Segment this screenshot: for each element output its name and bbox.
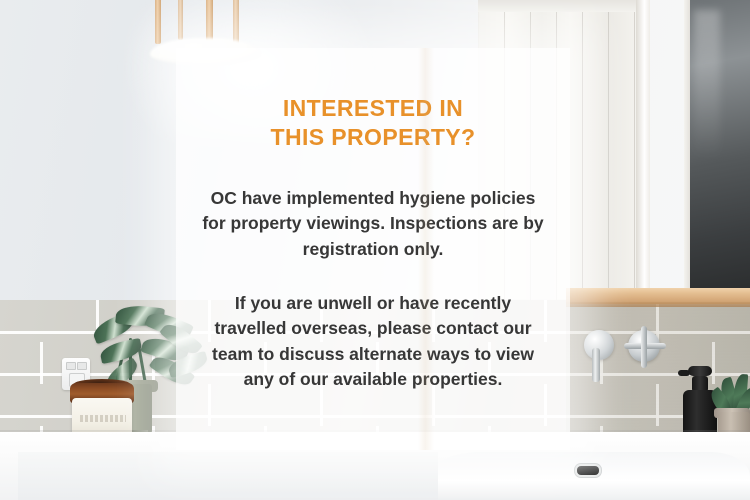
cabinet-top-rail [478,0,646,12]
poster-canvas: Interested in This Property? OC have imp… [0,0,750,500]
bathtub-bowl [420,452,750,500]
lamp-dowel [178,0,183,40]
hygiene-policy-paragraph: OC have implemented hygiene policies for… [198,186,548,263]
headline-line-2: This Property? [271,123,476,152]
unwell-contact-paragraph: If you are unwell or have recently trave… [198,291,548,393]
oak-shelf-edge [566,302,750,307]
headline-line-1: Interested in [283,95,463,121]
cabinet-edge [636,0,650,302]
bath-overflow-cover [577,466,599,475]
lamp-dowel [155,0,161,44]
mirror-sheen [694,10,720,260]
message-overlay-card: Interested in This Property? OC have imp… [176,48,570,450]
bathtub-front-panel [18,452,438,500]
page-title: Interested in This Property? [271,94,476,153]
